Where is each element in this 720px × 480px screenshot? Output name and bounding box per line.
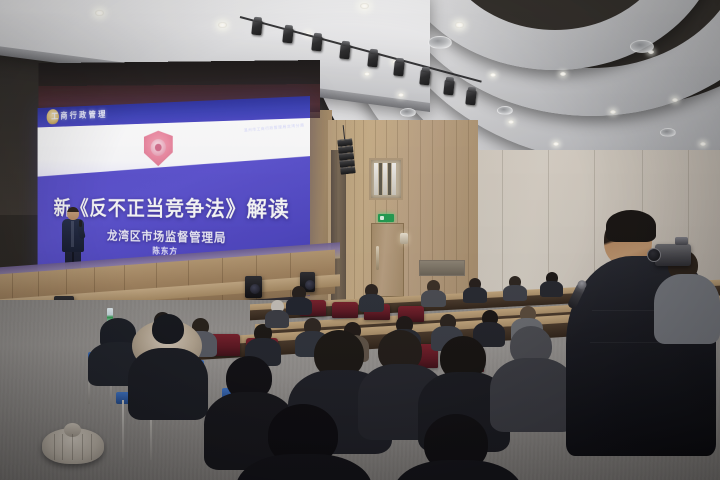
stage-spotlight-icon — [282, 28, 294, 44]
camera-viewfinder-icon — [675, 237, 688, 245]
slide-banner-text: 工商行政管理 — [51, 108, 108, 122]
presenter-head — [67, 207, 79, 220]
downlight-icon — [700, 142, 706, 146]
stage-spotlight-icon — [339, 44, 351, 60]
ceiling-vent-icon — [400, 108, 416, 117]
downlight-icon — [490, 73, 496, 77]
stage-spotlight-icon — [419, 70, 431, 86]
foreground-man-hair — [606, 210, 656, 242]
wall-air-vent — [419, 260, 465, 276]
downlight-icon — [398, 93, 404, 97]
downlight-icon — [610, 110, 616, 114]
ceiling-vent-icon — [497, 106, 513, 115]
ceiling-vent-icon — [428, 36, 452, 49]
downlight-icon — [508, 120, 514, 124]
downlight-icon — [560, 72, 566, 76]
presenter-microphone-icon — [79, 220, 82, 227]
handbag-on-floor — [42, 428, 104, 464]
chair-leg — [122, 400, 124, 458]
aic-shield-emblem-icon — [144, 130, 173, 166]
downlight-icon — [360, 3, 369, 9]
downlight-icon — [364, 72, 370, 76]
slatted-window — [369, 158, 403, 200]
stage-spotlight-icon — [311, 36, 323, 52]
stage-spotlight-icon — [251, 20, 263, 36]
downlight-icon — [95, 10, 104, 16]
downlight-icon — [672, 98, 678, 102]
photograph-scene: 工商行政管理 温州市工商行政管理局龙湾分局 新《反不正当竞争法》解读 龙湾区市场… — [0, 0, 720, 480]
seat[interactable] — [332, 302, 358, 318]
stage-spotlight-icon — [443, 80, 455, 96]
stage-spotlight-icon — [367, 52, 379, 68]
downlight-icon — [455, 22, 464, 28]
exit-sign — [378, 214, 394, 222]
stage-monitor-speaker — [245, 276, 262, 298]
camera-lens-icon — [647, 248, 661, 262]
video-camera — [655, 244, 691, 266]
wall-sconce-icon — [400, 233, 408, 244]
stage-spotlight-icon — [465, 90, 477, 106]
door-handle[interactable] — [376, 246, 379, 270]
downlight-icon — [553, 142, 559, 146]
ceiling-vent-icon — [630, 40, 654, 53]
stage-spotlight-icon — [393, 61, 405, 77]
downlight-icon — [218, 22, 227, 28]
ceiling-vent-icon — [660, 128, 676, 137]
